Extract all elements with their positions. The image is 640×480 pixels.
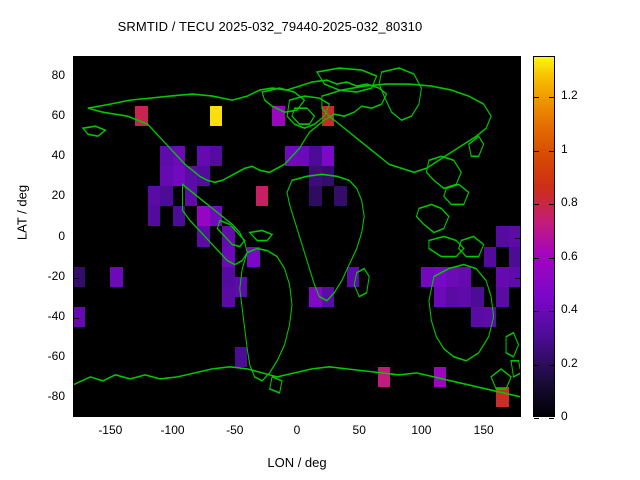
x-axis-tick-label: -50 bbox=[205, 423, 265, 437]
colorbar-tick bbox=[534, 311, 539, 312]
colorbar-tick-label: 0 bbox=[561, 409, 568, 423]
x-axis-tick-label: 0 bbox=[267, 423, 327, 437]
y-axis-tick-label: -80 bbox=[13, 389, 65, 403]
x-axis-tick-label: 50 bbox=[329, 423, 389, 437]
y-axis-tick-label: 80 bbox=[13, 68, 65, 82]
heatmap-plot-area[interactable] bbox=[73, 56, 521, 417]
colorbar-tick bbox=[534, 365, 539, 366]
colorbar-tick bbox=[534, 418, 539, 419]
y-axis-tick-label: -20 bbox=[13, 269, 65, 283]
colorbar-tick bbox=[534, 204, 539, 205]
colorbar-tick bbox=[549, 151, 554, 152]
y-axis-tick-label: -40 bbox=[13, 309, 65, 323]
y-axis-tick-label: 60 bbox=[13, 108, 65, 122]
y-axis-tick-label: 20 bbox=[13, 188, 65, 202]
x-axis-tick-label: 100 bbox=[391, 423, 451, 437]
colorbar-tick bbox=[549, 365, 554, 366]
x-axis-tick-label: -150 bbox=[80, 423, 140, 437]
colorbar-tick bbox=[549, 258, 554, 259]
plot-window: SRMTID / TECU 2025-032_79440-2025-032_80… bbox=[0, 0, 640, 480]
x-axis-title: LON / deg bbox=[73, 455, 521, 470]
x-axis-tick-label: -100 bbox=[143, 423, 203, 437]
colorbar-tick-label: 0.4 bbox=[561, 302, 578, 316]
y-axis-tick-label: 40 bbox=[13, 148, 65, 162]
colorbar-tick-label: 1 bbox=[561, 142, 568, 156]
colorbar-tick bbox=[549, 204, 554, 205]
colorbar-tick-label: 0.6 bbox=[561, 249, 578, 263]
colorbar-tick-label: 0.2 bbox=[561, 356, 578, 370]
colorbar-tick bbox=[549, 97, 554, 98]
colorbar-tick-label: 1.2 bbox=[561, 88, 578, 102]
x-axis-tick-label: 150 bbox=[454, 423, 514, 437]
y-axis-title: LAT / deg bbox=[15, 153, 30, 273]
coastline-overlay bbox=[73, 56, 521, 417]
y-axis-tick-label: -60 bbox=[13, 349, 65, 363]
colorbar-tick-label: 0.8 bbox=[561, 195, 578, 209]
colorbar-tick bbox=[534, 97, 539, 98]
page-title: SRMTID / TECU 2025-032_79440-2025-032_80… bbox=[0, 19, 540, 34]
colorbar-tick bbox=[534, 151, 539, 152]
colorbar-tick bbox=[534, 258, 539, 259]
y-axis-tick-label: 0 bbox=[13, 229, 65, 243]
colorbar-tick bbox=[549, 418, 554, 419]
colorbar-tick bbox=[549, 311, 554, 312]
colorbar bbox=[533, 56, 555, 417]
